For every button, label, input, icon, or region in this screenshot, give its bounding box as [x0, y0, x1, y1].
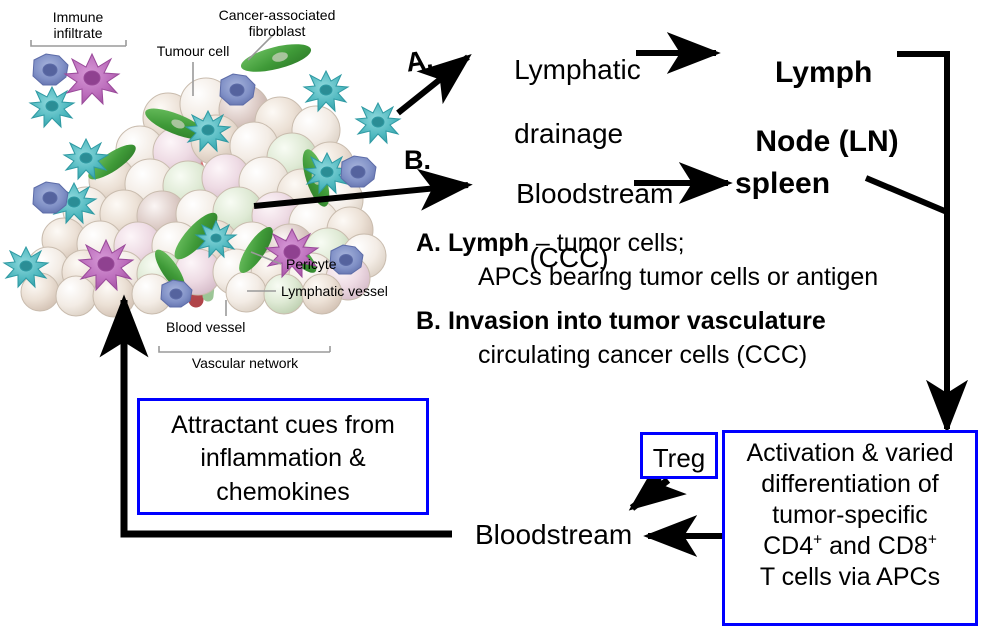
- attractant-line2: inflammation &: [200, 444, 365, 472]
- treg-label: Treg: [643, 435, 715, 482]
- lymph-node-line1: Lymph: [775, 56, 872, 89]
- activation-differentiation-box: Activation & varied differentiation of t…: [722, 430, 978, 626]
- bloodstream-ccc-line1: Bloodstream: [516, 178, 673, 209]
- node-bloodstream-bottom: Bloodstream: [475, 519, 632, 551]
- activation-line3: tumor-specific: [772, 501, 928, 529]
- attractant-line1: Attractant cues from: [171, 411, 395, 439]
- legend-line-a: A. Lymph – tumor cells;: [416, 226, 886, 260]
- legend-b-bold: B. Invasion into tumor vasculature: [416, 304, 886, 338]
- lymphatic-drainage-line1: Lymphatic: [514, 54, 641, 85]
- label-immune-infiltrate-line1: Immune: [53, 9, 104, 25]
- label-caf-line2: fibroblast: [249, 23, 306, 39]
- treg-box: Treg: [640, 432, 718, 479]
- route-B-marker: B.: [404, 145, 431, 176]
- diagram-canvas: Immune infiltrate Cancer-associated fibr…: [0, 0, 1000, 635]
- label-immune-infiltrate-line2: infiltrate: [53, 25, 102, 41]
- activation-line1: Activation & varied: [746, 439, 953, 467]
- route-legend: A. Lymph – tumor cells; APCs bearing tum…: [416, 226, 886, 372]
- legend-a-indent: APCs bearing tumor cells or antigen: [416, 260, 886, 294]
- activation-cd8-sup: +: [928, 532, 937, 549]
- node-spleen: spleen: [735, 167, 830, 201]
- label-blood-vessel: Blood vessel: [166, 319, 245, 335]
- label-pericyte: Pericyte: [286, 256, 337, 272]
- attractant-line3: chemokines: [216, 478, 349, 506]
- activation-line4: CD4+ and CD8+: [763, 532, 937, 560]
- legend-spacer: [416, 294, 886, 304]
- lymph-node-line2: Node (LN): [755, 125, 898, 158]
- legend-b-indent: circulating cancer cells (CCC): [416, 338, 886, 372]
- activation-line5: T cells via APCs: [760, 563, 940, 591]
- activation-and-cd8: and CD8: [822, 532, 928, 560]
- activation-cd4: CD4: [763, 532, 813, 560]
- activation-cd4-sup: +: [813, 532, 822, 549]
- attractant-cues-text: Attractant cues from inflammation & chem…: [140, 401, 426, 509]
- label-caf-line1: Cancer-associated: [219, 7, 336, 23]
- lymphatic-drainage-line2: drainage: [514, 118, 623, 149]
- legend-a-rest: – tumor cells;: [529, 229, 685, 257]
- label-vascular-network: Vascular network: [192, 355, 299, 371]
- label-lymphatic-vessel: Lymphatic vessel: [281, 283, 388, 299]
- activation-line2: differentiation of: [761, 470, 938, 498]
- label-tumour-cell: Tumour cell: [157, 43, 230, 59]
- activation-text: Activation & varied differentiation of t…: [725, 433, 975, 593]
- attractant-cues-box: Attractant cues from inflammation & chem…: [137, 398, 429, 515]
- legend-a-bold: A. Lymph: [416, 229, 529, 257]
- route-A-marker: A.: [404, 44, 435, 78]
